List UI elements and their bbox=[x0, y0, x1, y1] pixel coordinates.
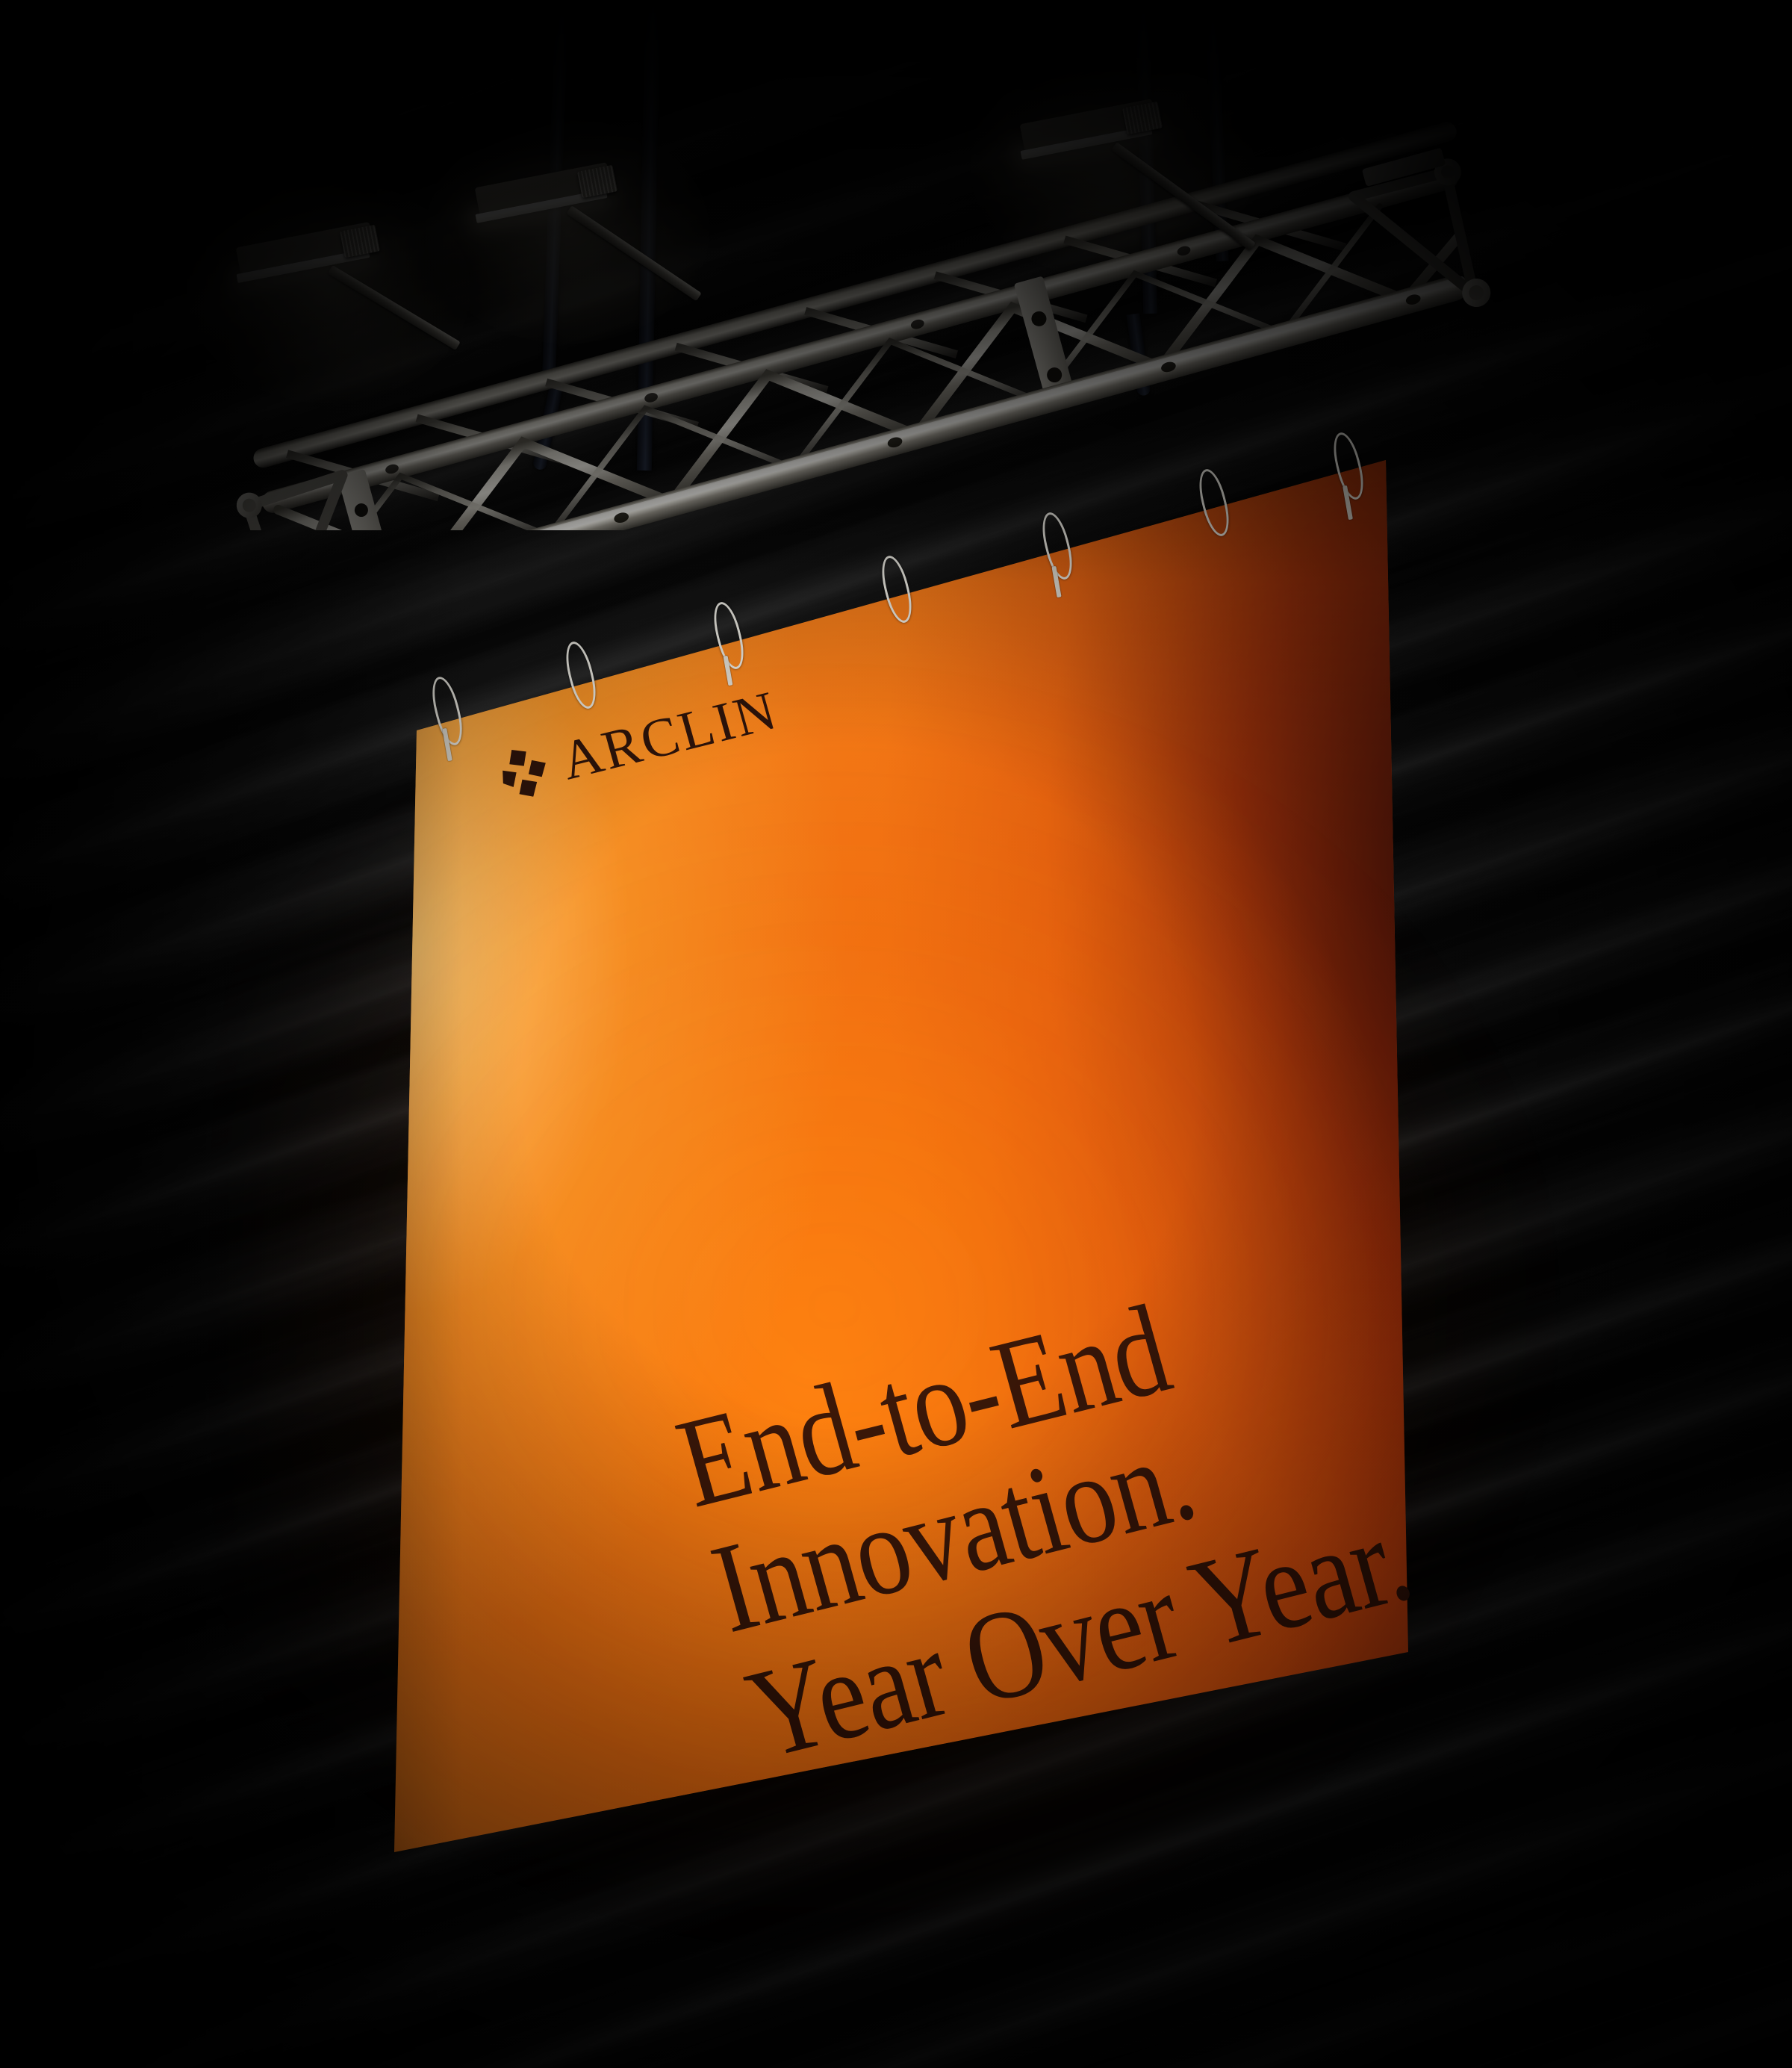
scene-root: ARCLIN End-to-End Innovation. Year Over … bbox=[0, 0, 1792, 2068]
arclin-pinwheel-icon bbox=[494, 741, 556, 803]
brand-logo[interactable]: ARCLIN bbox=[494, 683, 784, 804]
